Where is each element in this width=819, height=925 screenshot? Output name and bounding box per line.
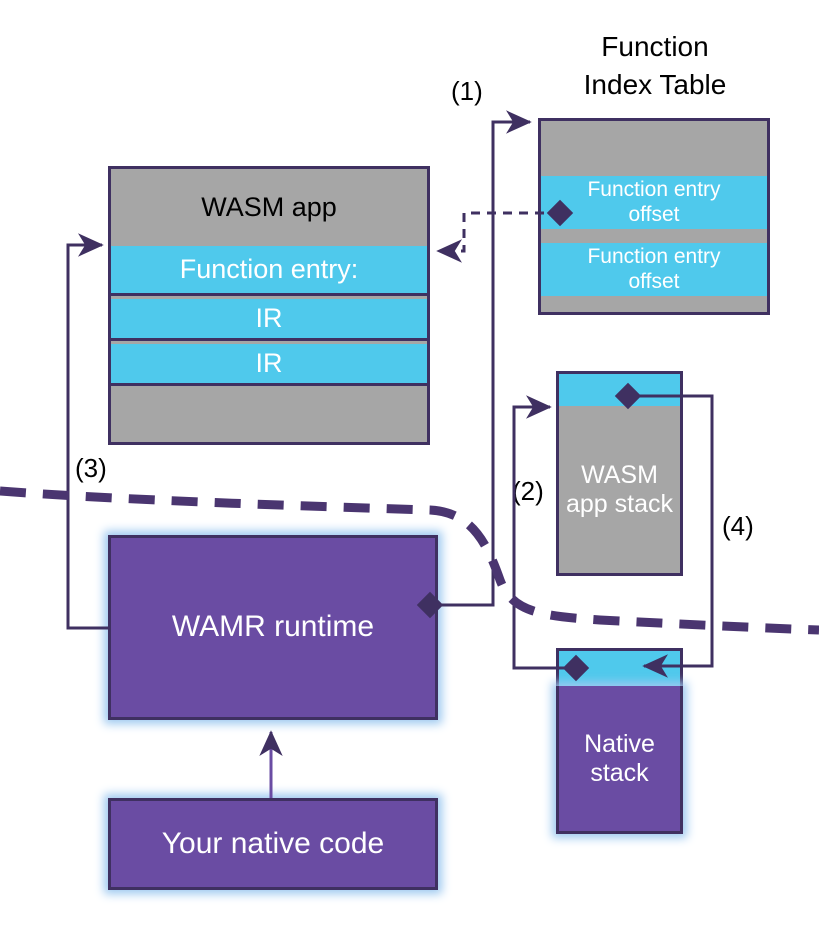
native-stack-top-frame xyxy=(556,648,683,686)
function-index-table-caption: Function Index Table xyxy=(510,28,800,104)
wasm-app-stack-box: WASM app stack xyxy=(556,406,683,576)
function-index-table-row: Function entry offset xyxy=(541,243,767,303)
wasm-app-ir-band: IR xyxy=(111,344,427,386)
wasm-app-function-entry-band: Function entry: xyxy=(111,246,427,296)
step-label-3: (3) xyxy=(75,455,107,481)
connector-step-1 xyxy=(430,122,530,605)
diagram-canvas: Function Index Table Function entry offs… xyxy=(0,0,819,925)
your-native-code-box: Your native code xyxy=(108,798,438,890)
function-index-table-row: Function entry offset xyxy=(541,176,767,236)
step-label-1: (1) xyxy=(451,78,483,104)
step-label-4: (4) xyxy=(722,513,754,539)
wasm-app-stack-top-frame xyxy=(556,371,683,406)
wasm-app-ir-band: IR xyxy=(111,299,427,341)
wamr-runtime-box: WAMR runtime xyxy=(108,535,438,720)
native-stack-box: Native stack xyxy=(556,686,683,834)
wasm-app-title: WASM app xyxy=(111,169,427,246)
connector-step-3 xyxy=(68,245,108,628)
step-label-2: (2) xyxy=(512,478,544,504)
